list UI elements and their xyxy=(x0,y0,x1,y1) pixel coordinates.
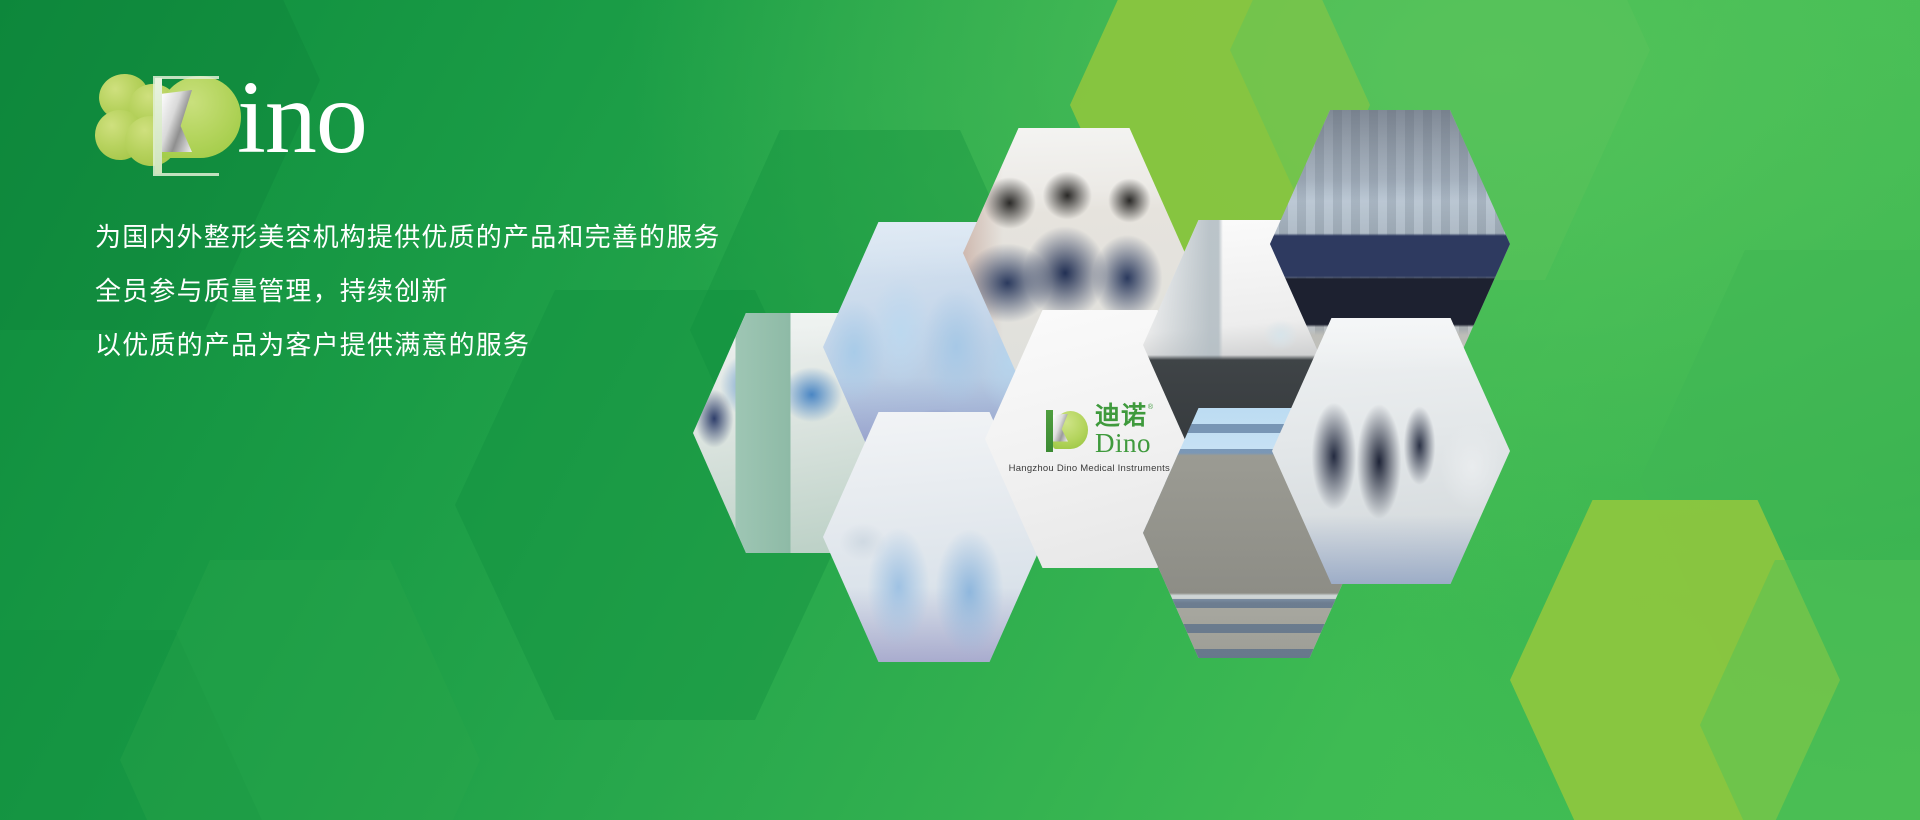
registered-trademark-icon: ® xyxy=(1148,404,1154,411)
letter-d-leaf-icon xyxy=(145,76,241,172)
brand-name-en: Dino xyxy=(1095,430,1154,457)
dino-wordmark: ino xyxy=(237,66,367,170)
center-logo-lockup: 迪诺 ® Dino xyxy=(1046,404,1154,457)
hero-banner: ino 为国内外整形美容机构提供优质的产品和完善的服务 全员参与质量管理，持续创… xyxy=(0,0,1920,820)
brand-name-cn: 迪诺 ® xyxy=(1095,404,1154,429)
hero-text-column: ino 为国内外整形美容机构提供优质的产品和完善的服务 全员参与质量管理，持续创… xyxy=(95,62,855,386)
tagline-line-3: 以优质的产品为客户提供满意的服务 xyxy=(95,332,855,358)
tagline-line-2: 全员参与质量管理，持续创新 xyxy=(95,278,855,304)
brand-name-cn-text: 迪诺 xyxy=(1095,402,1147,430)
center-logo-text: 迪诺 ® Dino xyxy=(1095,404,1154,457)
tagline-block: 为国内外整形美容机构提供优质的产品和完善的服务 全员参与质量管理，持续创新 以优… xyxy=(95,224,855,358)
company-name-line: Hangzhou Dino Medical Instruments Co.. xyxy=(1009,463,1192,474)
tagline-line-1: 为国内外整形美容机构提供优质的产品和完善的服务 xyxy=(95,224,855,250)
dino-logo: ino xyxy=(95,62,515,172)
dino-d-leaf-icon xyxy=(1046,410,1088,452)
